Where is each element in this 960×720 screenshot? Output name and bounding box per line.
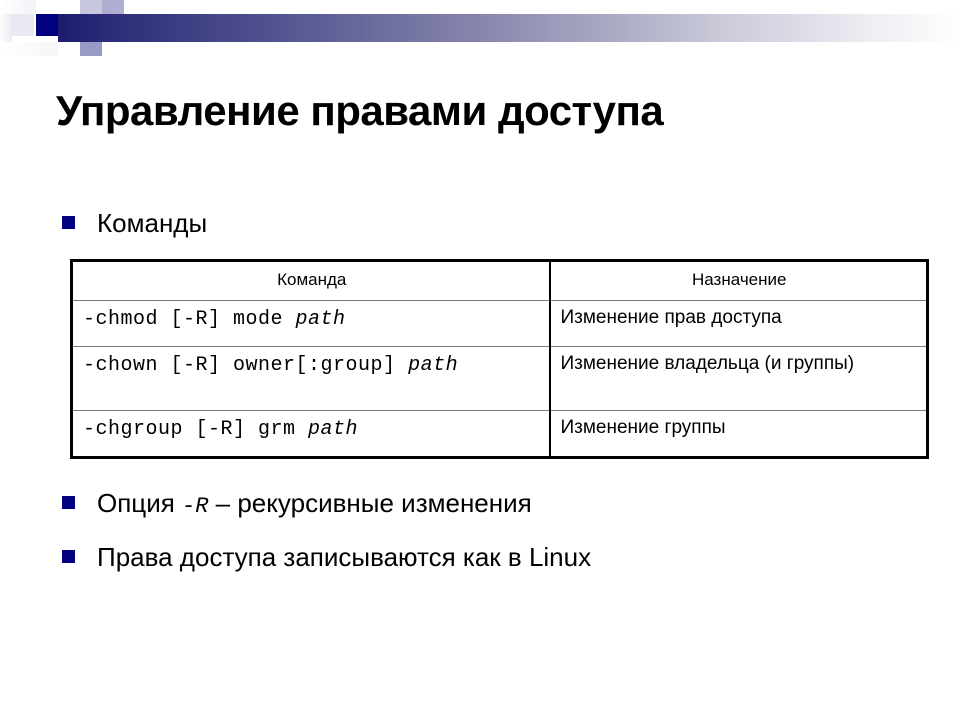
cell-command: -chgroup [-R] grm path	[72, 411, 550, 458]
command-text: -chown [-R] owner[:group]	[83, 354, 408, 377]
bullet-prefix-text: Опция	[97, 488, 182, 518]
cell-command: -chmod [-R] mode path	[72, 301, 550, 347]
slide-root: { "slide": { "title": "Управление правам…	[0, 0, 960, 720]
square-bullet-icon	[62, 496, 75, 509]
page-title: Управление правами доступа	[56, 88, 916, 134]
deco-block-pale-top	[0, 0, 36, 14]
commands-table: Команда Назначение -chmod [-R] mode path…	[70, 259, 929, 459]
cell-purpose: Изменение группы	[550, 411, 928, 458]
deco-block-pale-left	[0, 14, 12, 42]
deco-block-c	[58, 0, 80, 14]
bullet-item-option-r: Опция -R – рекурсивные изменения	[62, 488, 532, 519]
deco-block-d	[80, 0, 102, 14]
table-row: -chmod [-R] mode path Изменение прав дос…	[72, 301, 928, 347]
bullet-suffix-text: – рекурсивные изменения	[208, 488, 531, 518]
table-row: -chown [-R] owner[:group] path Изменение…	[72, 347, 928, 411]
command-argument: path	[296, 308, 346, 331]
bullet-item-permissions: Права доступа записываются как в Linux	[62, 542, 591, 573]
deco-block-a	[12, 14, 34, 36]
deco-block-pale-bottom	[0, 42, 58, 56]
header-decoration	[0, 0, 960, 72]
header-gradient-bar	[58, 14, 960, 42]
bullet-label-commands: Команды	[97, 208, 207, 239]
cell-purpose: Изменение прав доступа	[550, 301, 928, 347]
cell-command: -chown [-R] owner[:group] path	[72, 347, 550, 411]
bullet-label-permissions: Права доступа записываются как в Linux	[97, 542, 591, 573]
deco-block-navy	[36, 14, 58, 36]
square-bullet-icon	[62, 550, 75, 563]
command-text: -chgroup [-R] grm	[83, 418, 308, 441]
option-code: -R	[182, 494, 208, 519]
bullet-label-option-r: Опция -R – рекурсивные изменения	[97, 488, 532, 519]
square-bullet-icon	[62, 216, 75, 229]
deco-block-j	[80, 42, 102, 56]
bullet-item-commands: Команды	[62, 208, 207, 239]
table-header-row: Команда Назначение	[72, 261, 928, 301]
column-header-command: Команда	[72, 261, 550, 301]
cell-purpose: Изменение владельца (и группы)	[550, 347, 928, 411]
column-header-purpose: Назначение	[550, 261, 928, 301]
command-text: -chmod [-R] mode	[83, 308, 296, 331]
command-argument: path	[308, 418, 358, 441]
command-argument: path	[408, 354, 458, 377]
table-row: -chgroup [-R] grm path Изменение группы	[72, 411, 928, 458]
